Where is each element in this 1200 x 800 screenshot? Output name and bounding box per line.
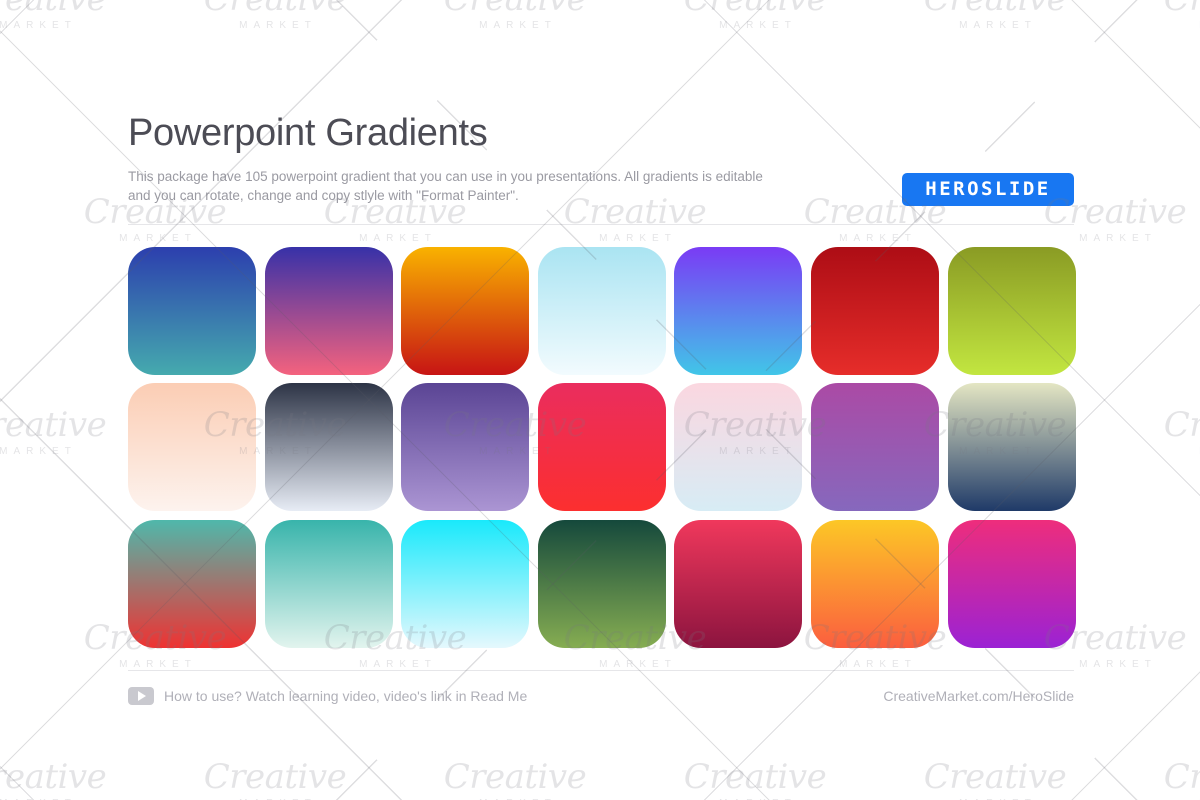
page-subtitle: This package have 105 powerpoint gradien… [128, 167, 768, 205]
gradient-swatch-magenta-to-violet[interactable] [811, 383, 939, 511]
subtitle-row: This package have 105 powerpoint gradien… [128, 167, 1074, 206]
page-title: Powerpoint Gradients [128, 112, 1074, 156]
gradient-swatch-pink-to-paleblue[interactable] [674, 383, 802, 511]
gradient-swatch-blue-to-teal[interactable] [128, 247, 256, 375]
gradient-swatch-teal-to-red[interactable] [128, 520, 256, 648]
heroslide-logo: HEROSLIDE [902, 173, 1074, 206]
gradient-swatch-crimson-to-red[interactable] [538, 383, 666, 511]
gradient-swatch-grid [128, 247, 1074, 648]
gradient-swatch-pink-to-maroon[interactable] [674, 520, 802, 648]
gradient-swatch-pale-cyan-to-white[interactable] [538, 247, 666, 375]
gradient-swatch-darkred-to-red[interactable] [811, 247, 939, 375]
gradient-swatch-deeppurple-to-lilac[interactable] [401, 383, 529, 511]
slide-canvas: Powerpoint Gradients This package have 1… [0, 0, 1200, 800]
divider-bottom [128, 670, 1074, 671]
divider-top [128, 224, 1074, 225]
gradient-swatch-violet-to-cyan[interactable] [674, 247, 802, 375]
gradient-swatch-darkgreen-to-olive[interactable] [538, 520, 666, 648]
gradient-swatch-indigo-to-pink[interactable] [265, 247, 393, 375]
gradient-swatch-peach-to-white[interactable] [128, 383, 256, 511]
footer-url: CreativeMarket.com/HeroSlide [883, 689, 1074, 703]
footer-note: How to use? Watch learning video, video'… [164, 689, 527, 703]
gradient-swatch-navy-to-silver[interactable] [265, 383, 393, 511]
gradient-swatch-pink-to-purple[interactable] [948, 520, 1076, 648]
gradient-swatch-amber-to-crimson[interactable] [401, 247, 529, 375]
card-content: Powerpoint Gradients This package have 1… [128, 112, 1074, 705]
gradient-swatch-olive-to-lime[interactable] [948, 247, 1076, 375]
gradient-swatch-cyan-to-palecyan[interactable] [401, 520, 529, 648]
card-footer: How to use? Watch learning video, video'… [128, 687, 1074, 705]
footer-left-group: How to use? Watch learning video, video'… [128, 687, 527, 705]
gradient-swatch-teal-to-mint[interactable] [265, 520, 393, 648]
gradient-swatch-khaki-to-navy[interactable] [948, 383, 1076, 511]
heroslide-logo-text: HEROSLIDE [925, 180, 1050, 199]
gradient-showcase-card: Powerpoint Gradients This package have 1… [0, 0, 1200, 800]
play-video-icon[interactable] [128, 687, 154, 705]
gradient-swatch-yellow-to-orange[interactable] [811, 520, 939, 648]
